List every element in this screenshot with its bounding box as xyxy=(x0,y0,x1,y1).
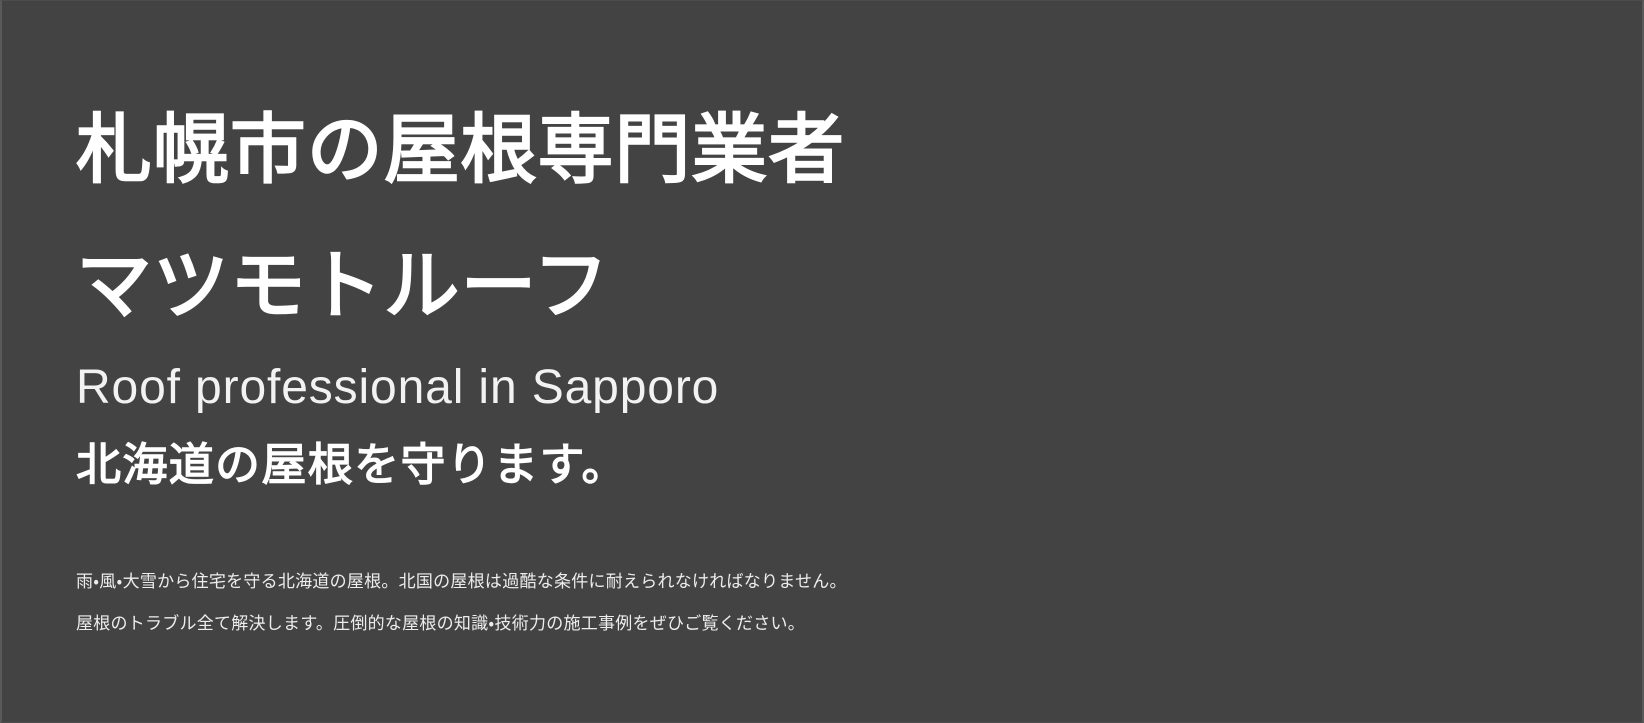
hero-section: 札幌市の屋根専門業者 マツモトルーフ Roof professional in … xyxy=(0,0,1644,723)
hero-lead-line-1: 雨・風・大雪から住宅を守る北海道の屋根。北国の屋根は過酷な条件に耐えられなければ… xyxy=(76,561,847,603)
hero-lead-line-2: 屋根のトラブル全て解決します。圧倒的な屋根の知識・技術力の施工事例をぜひご覧くだ… xyxy=(76,603,847,645)
hero-content: 札幌市の屋根専門業者 マツモトルーフ Roof professional in … xyxy=(76,1,1576,722)
page-title-line1: 札幌市の屋根専門業者 xyxy=(76,97,845,205)
hero-lead-paragraph: 雨・風・大雪から住宅を守る北海道の屋根。北国の屋根は過酷な条件に耐えられなければ… xyxy=(76,561,847,644)
page-title-line2: マツモトルーフ xyxy=(76,233,610,341)
hero-tagline-english: Roof professional in Sapporo xyxy=(76,359,719,417)
hero-subheadline: 北海道の屋根を守ります。 xyxy=(76,438,628,492)
